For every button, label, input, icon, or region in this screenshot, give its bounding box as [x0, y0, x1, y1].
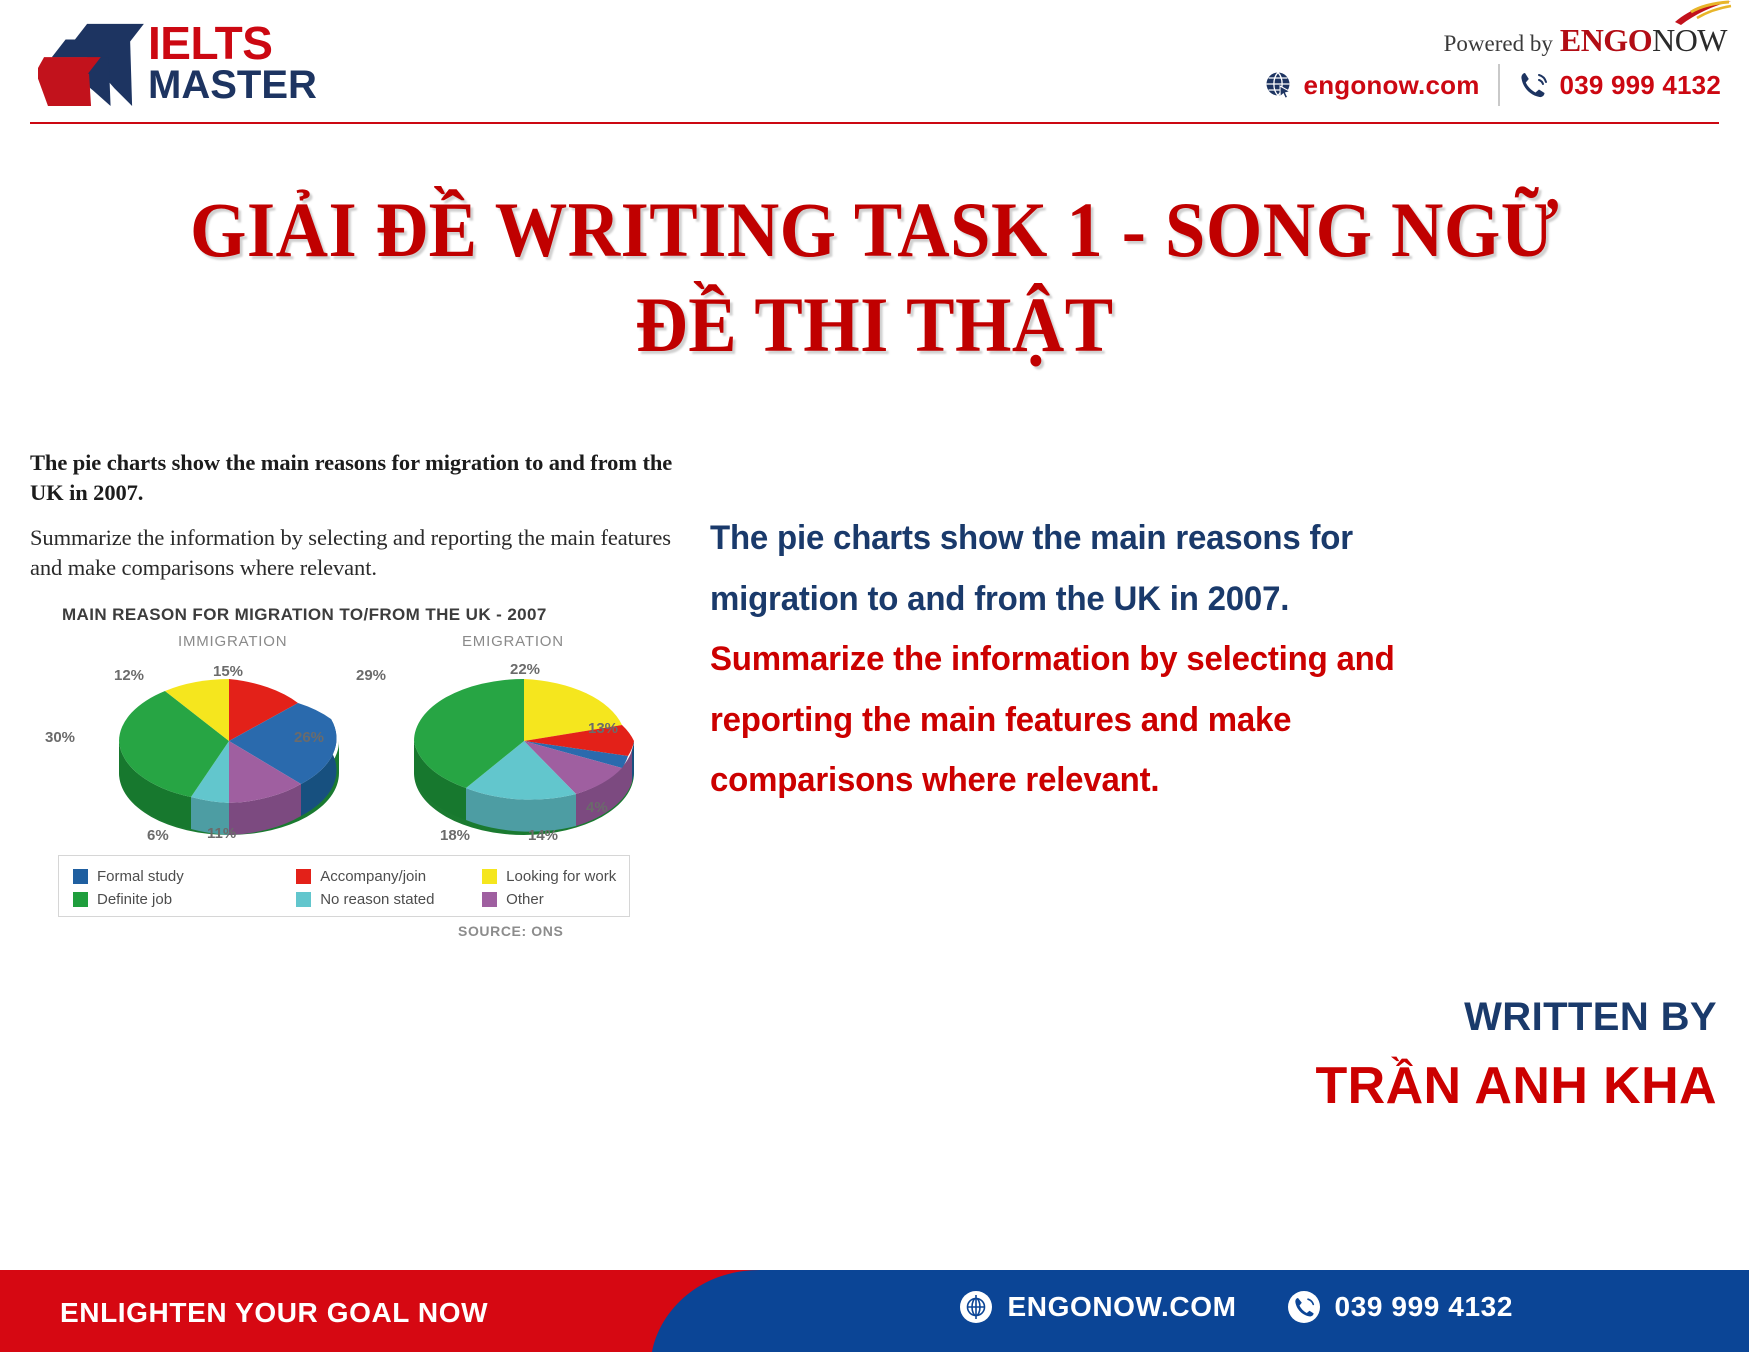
header-website-text: engonow.com: [1304, 70, 1480, 101]
pie-label-immigration-definite-job: 30%: [45, 729, 75, 746]
logo-wordmark: IELTS MASTER: [148, 21, 317, 105]
legend-swatch-other: [482, 892, 497, 907]
prompt-navy-line-1: The pie charts show the main reasons for: [710, 508, 1525, 569]
powered-by-engonow: Powered by ENGONOW: [1444, 22, 1727, 59]
phone-ringing-icon: [1518, 70, 1550, 100]
legend-label-formal-study: Formal study: [97, 868, 184, 885]
pie-label-emigration-other: 14%: [528, 827, 558, 844]
task-prompt-translation-block: The pie charts show the main reasons for…: [710, 508, 1550, 811]
slide-page: IELTS MASTER Powered by ENGONOW: [0, 0, 1749, 1352]
footer-phone-text: 039 999 4132: [1335, 1291, 1513, 1323]
powered-by-label: Powered by: [1444, 31, 1553, 57]
prompt-red-line-3: comparisons where relevant.: [710, 750, 1525, 811]
legend-label-looking-for-work: Looking for work: [506, 868, 616, 885]
header-contact-row: engonow.com 039 999 4132: [1264, 64, 1721, 106]
pie-label-emigration-definite-job: 29%: [356, 667, 386, 684]
prompt-navy-line-2: migration to and from the UK in 2007.: [710, 569, 1525, 630]
pie-label-emigration-no-reason-stated: 18%: [440, 827, 470, 844]
written-by-label: WRITTEN BY: [1315, 995, 1717, 1040]
pie-charts-figure: MAIN REASON FOR MIGRATION TO/FROM THE UK…: [30, 605, 670, 945]
page-header: IELTS MASTER Powered by ENGONOW: [0, 0, 1749, 130]
chart-subtitle-immigration: IMMIGRATION: [178, 633, 287, 650]
footer-website[interactable]: ENGONOW.COM: [959, 1290, 1236, 1324]
legend-label-definite-job: Definite job: [97, 891, 172, 908]
author-credit: WRITTEN BY TRẦN ANH KHA: [1315, 995, 1717, 1116]
legend-swatch-accompany-join: [296, 869, 311, 884]
legend-swatch-looking-for-work: [482, 869, 497, 884]
page-title: GIẢI ĐỀ WRITING TASK 1 - SONG NGỮ ĐỀ THI…: [0, 182, 1749, 372]
pie-label-immigration-looking-for-work: 12%: [114, 667, 144, 684]
logo-master-text: MASTER: [148, 66, 317, 105]
header-website[interactable]: engonow.com: [1264, 70, 1480, 101]
legend-item-looking-for-work: Looking for work: [482, 865, 629, 888]
prompt-red-line-1: Summarize the information by selecting a…: [710, 629, 1525, 690]
chart-subtitle-emigration: EMIGRATION: [462, 633, 564, 650]
pie-label-emigration-looking-for-work: 22%: [510, 661, 540, 678]
pie-label-emigration-formal-study: 4%: [586, 799, 608, 816]
engonow-brand-dark: NOW: [1652, 22, 1727, 58]
ielts-master-logo[interactable]: IELTS MASTER: [38, 18, 317, 108]
pie-label-immigration-formal-study: 26%: [294, 729, 324, 746]
stacked-books-icon: [38, 18, 146, 108]
footer-contact-row: ENGONOW.COM 039 999 4132: [959, 1290, 1513, 1324]
legend-row-2: Definite job No reason stated Other: [73, 888, 629, 911]
header-phone[interactable]: 039 999 4132: [1518, 70, 1721, 101]
legend-item-formal-study: Formal study: [73, 865, 296, 888]
engonow-brand-red: ENGO: [1560, 22, 1652, 58]
chart-source-label: SOURCE: ONS: [458, 923, 563, 939]
footer-phone[interactable]: 039 999 4132: [1287, 1290, 1513, 1324]
page-title-line-2: ĐỀ THI THẬT: [61, 277, 1688, 372]
swoosh-icon: [1673, 0, 1733, 26]
pie-label-immigration-other: 11%: [207, 825, 236, 842]
engonow-brand: ENGONOW: [1560, 22, 1727, 59]
pie-label-immigration-no-reason-stated: 6%: [147, 827, 169, 844]
legend-swatch-no-reason-stated: [296, 892, 311, 907]
legend-swatch-definite-job: [73, 892, 88, 907]
globe-cursor-icon: [1264, 70, 1294, 100]
legend-label-no-reason-stated: No reason stated: [320, 891, 434, 908]
legend-item-no-reason-stated: No reason stated: [296, 888, 482, 911]
header-contact-divider: [1498, 64, 1500, 106]
task-prompt-bold: The pie charts show the main reasons for…: [30, 448, 682, 507]
task-question-image: The pie charts show the main reasons for…: [30, 448, 682, 938]
legend-swatch-formal-study: [73, 869, 88, 884]
page-footer: ENLIGHTEN YOUR GOAL NOW ENGONOW.COM: [0, 1270, 1749, 1352]
header-divider-rule: [30, 122, 1719, 124]
legend-item-definite-job: Definite job: [73, 888, 296, 911]
footer-slogan: ENLIGHTEN YOUR GOAL NOW: [60, 1297, 488, 1329]
legend-item-other: Other: [482, 888, 629, 911]
legend-item-accompany-join: Accompany/join: [296, 865, 482, 888]
page-title-line-1: GIẢI ĐỀ WRITING TASK 1 - SONG NGỮ: [61, 182, 1688, 277]
globe-icon: [959, 1290, 993, 1324]
task-prompt-instruction: Summarize the information by selecting a…: [30, 523, 682, 582]
logo-ielts-text: IELTS: [148, 21, 317, 66]
chart-title: MAIN REASON FOR MIGRATION TO/FROM THE UK…: [62, 605, 547, 625]
legend-label-other: Other: [506, 891, 544, 908]
phone-icon: [1287, 1290, 1321, 1324]
chart-legend: Formal study Accompany/join Looking for …: [58, 855, 630, 917]
pie-label-immigration-accompany-join: 15%: [213, 663, 243, 680]
header-phone-text: 039 999 4132: [1560, 70, 1721, 101]
pie-label-emigration-accompany-join: 13%: [588, 720, 618, 737]
legend-row-1: Formal study Accompany/join Looking for …: [73, 865, 629, 888]
footer-website-text: ENGONOW.COM: [1007, 1291, 1236, 1323]
author-name: TRẦN ANH KHA: [1315, 1056, 1717, 1116]
legend-label-accompany-join: Accompany/join: [320, 868, 426, 885]
prompt-red-line-2: reporting the main features and make: [710, 690, 1525, 751]
